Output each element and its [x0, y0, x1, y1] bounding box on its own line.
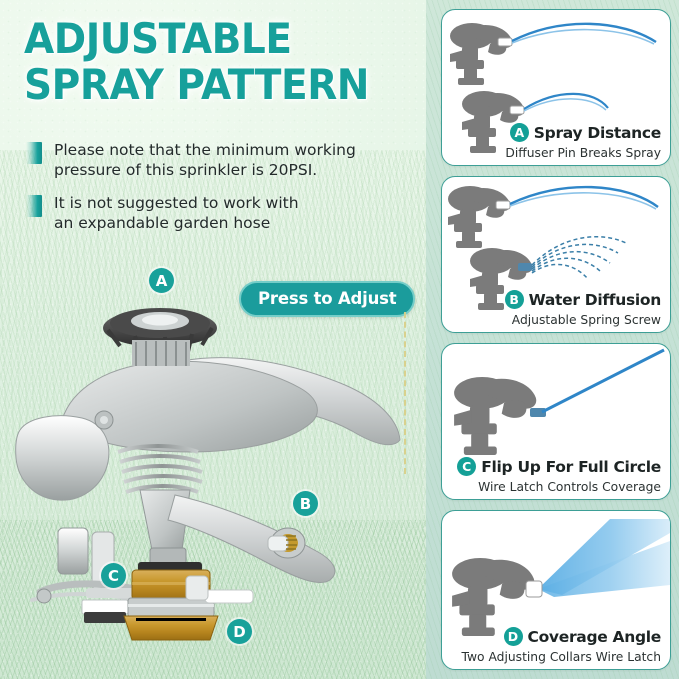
feature-panel-a[interactable]: A Spray Distance Diffuser Pin Breaks Spr…: [441, 9, 671, 166]
adjust-knob-cap: [142, 315, 178, 326]
feature-panel-b[interactable]: B Water Diffusion Adjustable Spring Scre…: [441, 176, 671, 333]
product-photo-sprinkler: [0, 300, 420, 679]
panel-b-label: B Water Diffusion: [505, 290, 661, 309]
press-to-adjust-badge[interactable]: Press to Adjust: [239, 281, 415, 317]
spring-screw-b1: [496, 201, 510, 209]
note-text: It is not suggested to work with an expa…: [54, 193, 299, 233]
panel-c-subtitle: Wire Latch Controls Coverage: [478, 480, 661, 494]
sprinkler-silhouette: [448, 186, 510, 248]
water-beam-straight: [542, 350, 664, 412]
impact-spring: [118, 446, 202, 492]
panel-c-label: C Flip Up For Full Circle: [457, 457, 661, 476]
sprinkler-silhouette: [454, 377, 536, 455]
panel-a-label: A Spray Distance: [510, 123, 661, 142]
water-jet-solid: [510, 187, 658, 207]
water-jet-long: [512, 24, 656, 42]
panel-d-title: Coverage Angle: [528, 628, 662, 646]
product-marker-d: D: [227, 619, 252, 644]
shaft-upper: [132, 340, 190, 366]
water-jet-short-shadow: [524, 99, 606, 111]
panel-d-label: D Coverage Angle: [504, 627, 662, 646]
panel-a-title: Spray Distance: [534, 124, 661, 142]
panel-d-subtitle: Two Adjusting Collars Wire Latch: [461, 650, 661, 664]
panel-d-badge: D: [504, 627, 523, 646]
diffused-spray-arcs: [532, 237, 626, 279]
feature-panel-c[interactable]: C Flip Up For Full Circle Wire Latch Con…: [441, 343, 671, 500]
title-line-1: ADJUSTABLE: [24, 16, 389, 62]
panel-b-subtitle: Adjustable Spring Screw: [512, 313, 661, 327]
panel-b-badge: B: [505, 290, 524, 309]
diffuser-pin-a1: [498, 38, 512, 46]
sprinkler-silhouette-2: [462, 91, 524, 153]
product-marker-a: A: [149, 268, 174, 293]
title-line-2: SPRAY PATTERN: [24, 62, 389, 108]
panel-a-subtitle: Diffuser Pin Breaks Spray: [505, 146, 661, 160]
bullet-marker-icon: [26, 142, 42, 164]
page-title: ADJUSTABLE SPRAY PATTERN: [24, 16, 416, 108]
panel-c-title: Flip Up For Full Circle: [481, 458, 661, 476]
adjusting-collar-lever-left[interactable]: [186, 576, 208, 600]
notes-list: Please note that the minimum working pre…: [24, 140, 404, 246]
bullet-marker-icon: [26, 195, 42, 217]
adjusting-collar-icon: [526, 581, 542, 597]
product-marker-b: B: [293, 491, 318, 516]
diffuser-pin-a2: [510, 106, 524, 114]
sprinkler-left-paddle: [16, 416, 109, 501]
feature-panel-d[interactable]: D Coverage Angle Two Adjusting Collars W…: [441, 510, 671, 670]
panel-a-badge: A: [510, 123, 529, 142]
list-item: Please note that the minimum working pre…: [24, 140, 404, 180]
panel-b-title: Water Diffusion: [529, 291, 661, 309]
leader-line: [404, 312, 406, 474]
list-item: It is not suggested to work with an expa…: [24, 193, 404, 233]
water-jet-short: [524, 94, 608, 109]
sprinkler-silhouette: [450, 23, 512, 85]
note-text: Please note that the minimum working pre…: [54, 140, 356, 180]
spring-screw-b2: [518, 263, 532, 271]
product-marker-c: C: [101, 563, 126, 588]
housing-screw-inner: [100, 416, 108, 424]
panel-c-badge: C: [457, 457, 476, 476]
adjusting-collar-lever-right[interactable]: [205, 590, 253, 603]
infographic-canvas: ADJUSTABLE SPRAY PATTERN Please note tha…: [0, 0, 679, 679]
sprinkler-silhouette: [452, 558, 534, 636]
